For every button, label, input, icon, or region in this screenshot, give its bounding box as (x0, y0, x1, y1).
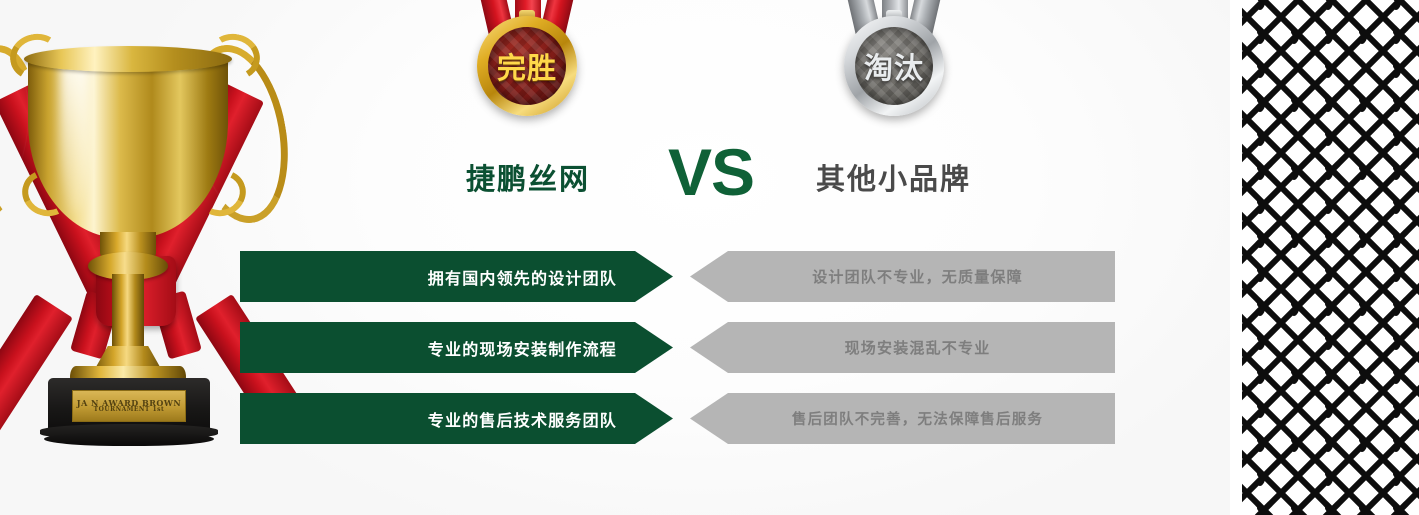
con-chevron-2: 现场安装混乱不专业 (690, 322, 1115, 373)
con-text-3: 售后团队不完善，无法保障售后服务 (792, 408, 1043, 429)
con-text-2: 现场安装混乱不专业 (845, 337, 991, 358)
pro-arrow-2: 专业的现场安装制作流程 (240, 322, 673, 373)
con-chevron-3: 售后团队不完善，无法保障售后服务 (690, 393, 1115, 444)
pro-text-3: 专业的售后技术服务团队 (428, 407, 617, 431)
comparison-row: 专业的售后技术服务团队 售后团队不完善，无法保障售后服务 (240, 393, 1115, 444)
pro-text-1: 拥有国内领先的设计团队 (428, 265, 617, 289)
comparison-row: 拥有国内领先的设计团队 设计团队不专业，无质量保障 (240, 251, 1115, 302)
comparison-row: 专业的现场安装制作流程 现场安装混乱不专业 (240, 322, 1115, 373)
promo-banner: JA N AWARD BROWN TOURNAMENT 1st 完胜 淘汰 捷鹏… (0, 0, 1419, 515)
con-text-1: 设计团队不专业，无质量保障 (812, 266, 1023, 287)
chain-link-fence-image (1230, 0, 1419, 515)
con-chevron-1: 设计团队不专业，无质量保障 (690, 251, 1115, 302)
pro-text-2: 专业的现场安装制作流程 (428, 336, 617, 360)
pro-arrow-1: 拥有国内领先的设计团队 (240, 251, 673, 302)
comparison-table: 拥有国内领先的设计团队 设计团队不专业，无质量保障 专业的现场安装制作流程 现场… (0, 0, 1419, 515)
pro-arrow-3: 专业的售后技术服务团队 (240, 393, 673, 444)
